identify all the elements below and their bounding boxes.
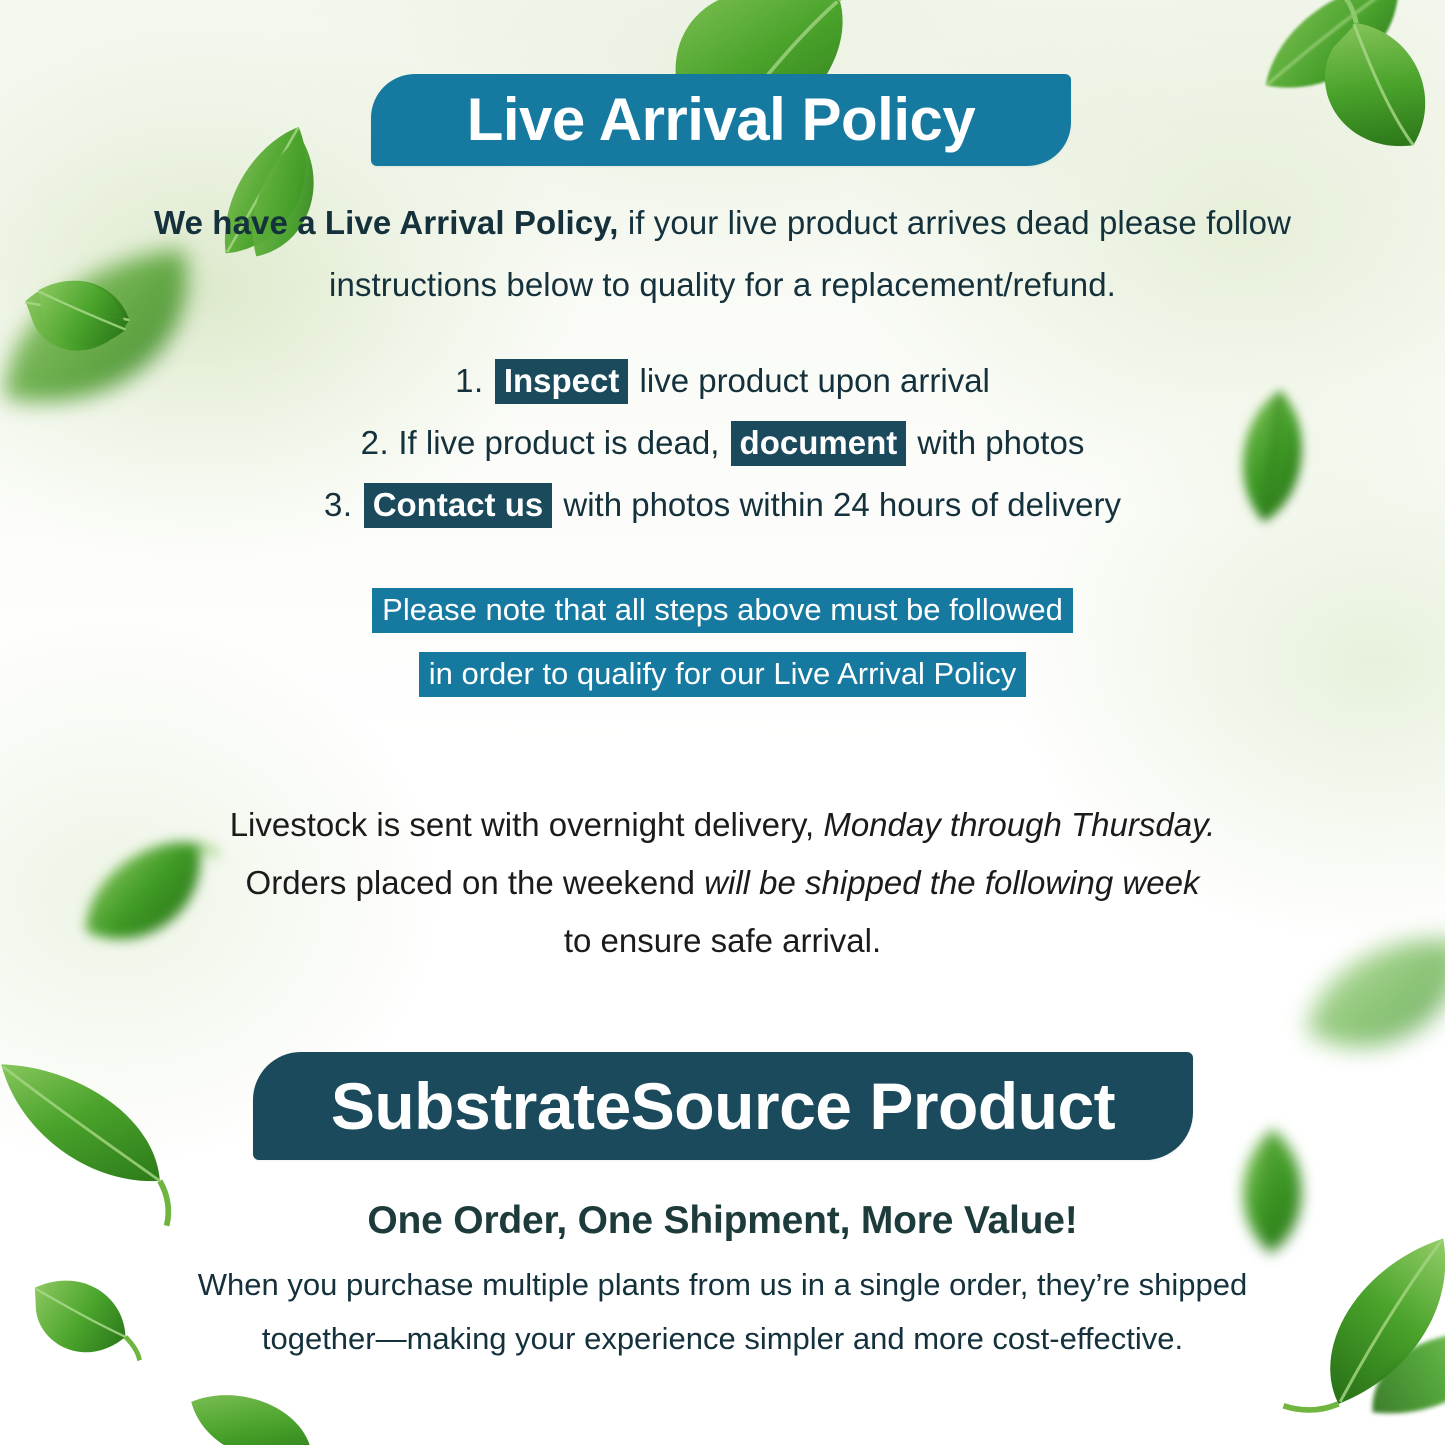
- policy-note-line-1: Please note that all steps above must be…: [372, 588, 1073, 633]
- live-arrival-policy-banner: Live Arrival Policy: [371, 74, 1071, 166]
- list-item: 3. Contact us with photos within 24 hour…: [120, 474, 1325, 536]
- step-number: 3.: [324, 486, 353, 523]
- policy-note-line-2-wrap: in order to qualify for our Live Arrival…: [120, 642, 1325, 706]
- step-text: live product upon arrival: [630, 362, 990, 399]
- list-item: 2. If live product is dead, document wit…: [120, 412, 1325, 474]
- live-arrival-policy-title: Live Arrival Policy: [467, 90, 976, 150]
- bundle-shipping-paragraph: When you purchase multiple plants from u…: [110, 1258, 1335, 1366]
- shipping-line-1-italic: Monday through Thursday.: [823, 806, 1215, 843]
- step-text: with photos: [908, 424, 1084, 461]
- policy-note-line-1-wrap: Please note that all steps above must be…: [120, 578, 1325, 642]
- policy-note: Please note that all steps above must be…: [120, 578, 1325, 706]
- shipping-line-2-italic: will be shipped the following week: [704, 864, 1199, 901]
- shipping-line-1: Livestock is sent with overnight deliver…: [120, 796, 1325, 854]
- steps-list: 1. Inspect live product upon arrival 2. …: [120, 350, 1325, 536]
- step-highlight-inspect: Inspect: [495, 359, 629, 404]
- substratesource-product-banner: SubstrateSource Product: [253, 1052, 1193, 1160]
- outro-line-2: together—making your experience simpler …: [110, 1312, 1335, 1366]
- step-text-before: If live product is dead,: [389, 424, 719, 461]
- intro-lead-bold: We have a Live Arrival Policy,: [154, 204, 619, 241]
- step-text: with photos within 24 hours of delivery: [554, 486, 1121, 523]
- shipping-schedule-paragraph: Livestock is sent with overnight deliver…: [120, 796, 1325, 970]
- substratesource-product-title: SubstrateSource Product: [331, 1073, 1115, 1139]
- policy-infographic: Live Arrival Policy We have a Live Arriv…: [0, 0, 1445, 1445]
- step-highlight-document: document: [731, 421, 907, 466]
- shipping-line-1-plain: Livestock is sent with overnight deliver…: [230, 806, 824, 843]
- list-item: 1. Inspect live product upon arrival: [120, 350, 1325, 412]
- shipping-line-3: to ensure safe arrival.: [120, 912, 1325, 970]
- shipping-line-2-plain: Orders placed on the weekend: [246, 864, 705, 901]
- intro-paragraph: We have a Live Arrival Policy, if your l…: [120, 192, 1325, 316]
- shipping-line-2: Orders placed on the weekend will be shi…: [120, 854, 1325, 912]
- policy-note-line-2: in order to qualify for our Live Arrival…: [419, 652, 1027, 697]
- intro-line-1: We have a Live Arrival Policy, if your l…: [120, 192, 1325, 254]
- step-number: 2.: [361, 424, 390, 461]
- intro-line-1-rest: if your live product arrives dead please…: [619, 204, 1291, 241]
- value-subheading: One Order, One Shipment, More Value!: [120, 1195, 1325, 1247]
- intro-line-2: instructions below to quality for a repl…: [120, 254, 1325, 316]
- outro-line-1: When you purchase multiple plants from u…: [110, 1258, 1335, 1312]
- step-number: 1.: [455, 362, 484, 399]
- step-highlight-contact-us[interactable]: Contact us: [364, 483, 553, 528]
